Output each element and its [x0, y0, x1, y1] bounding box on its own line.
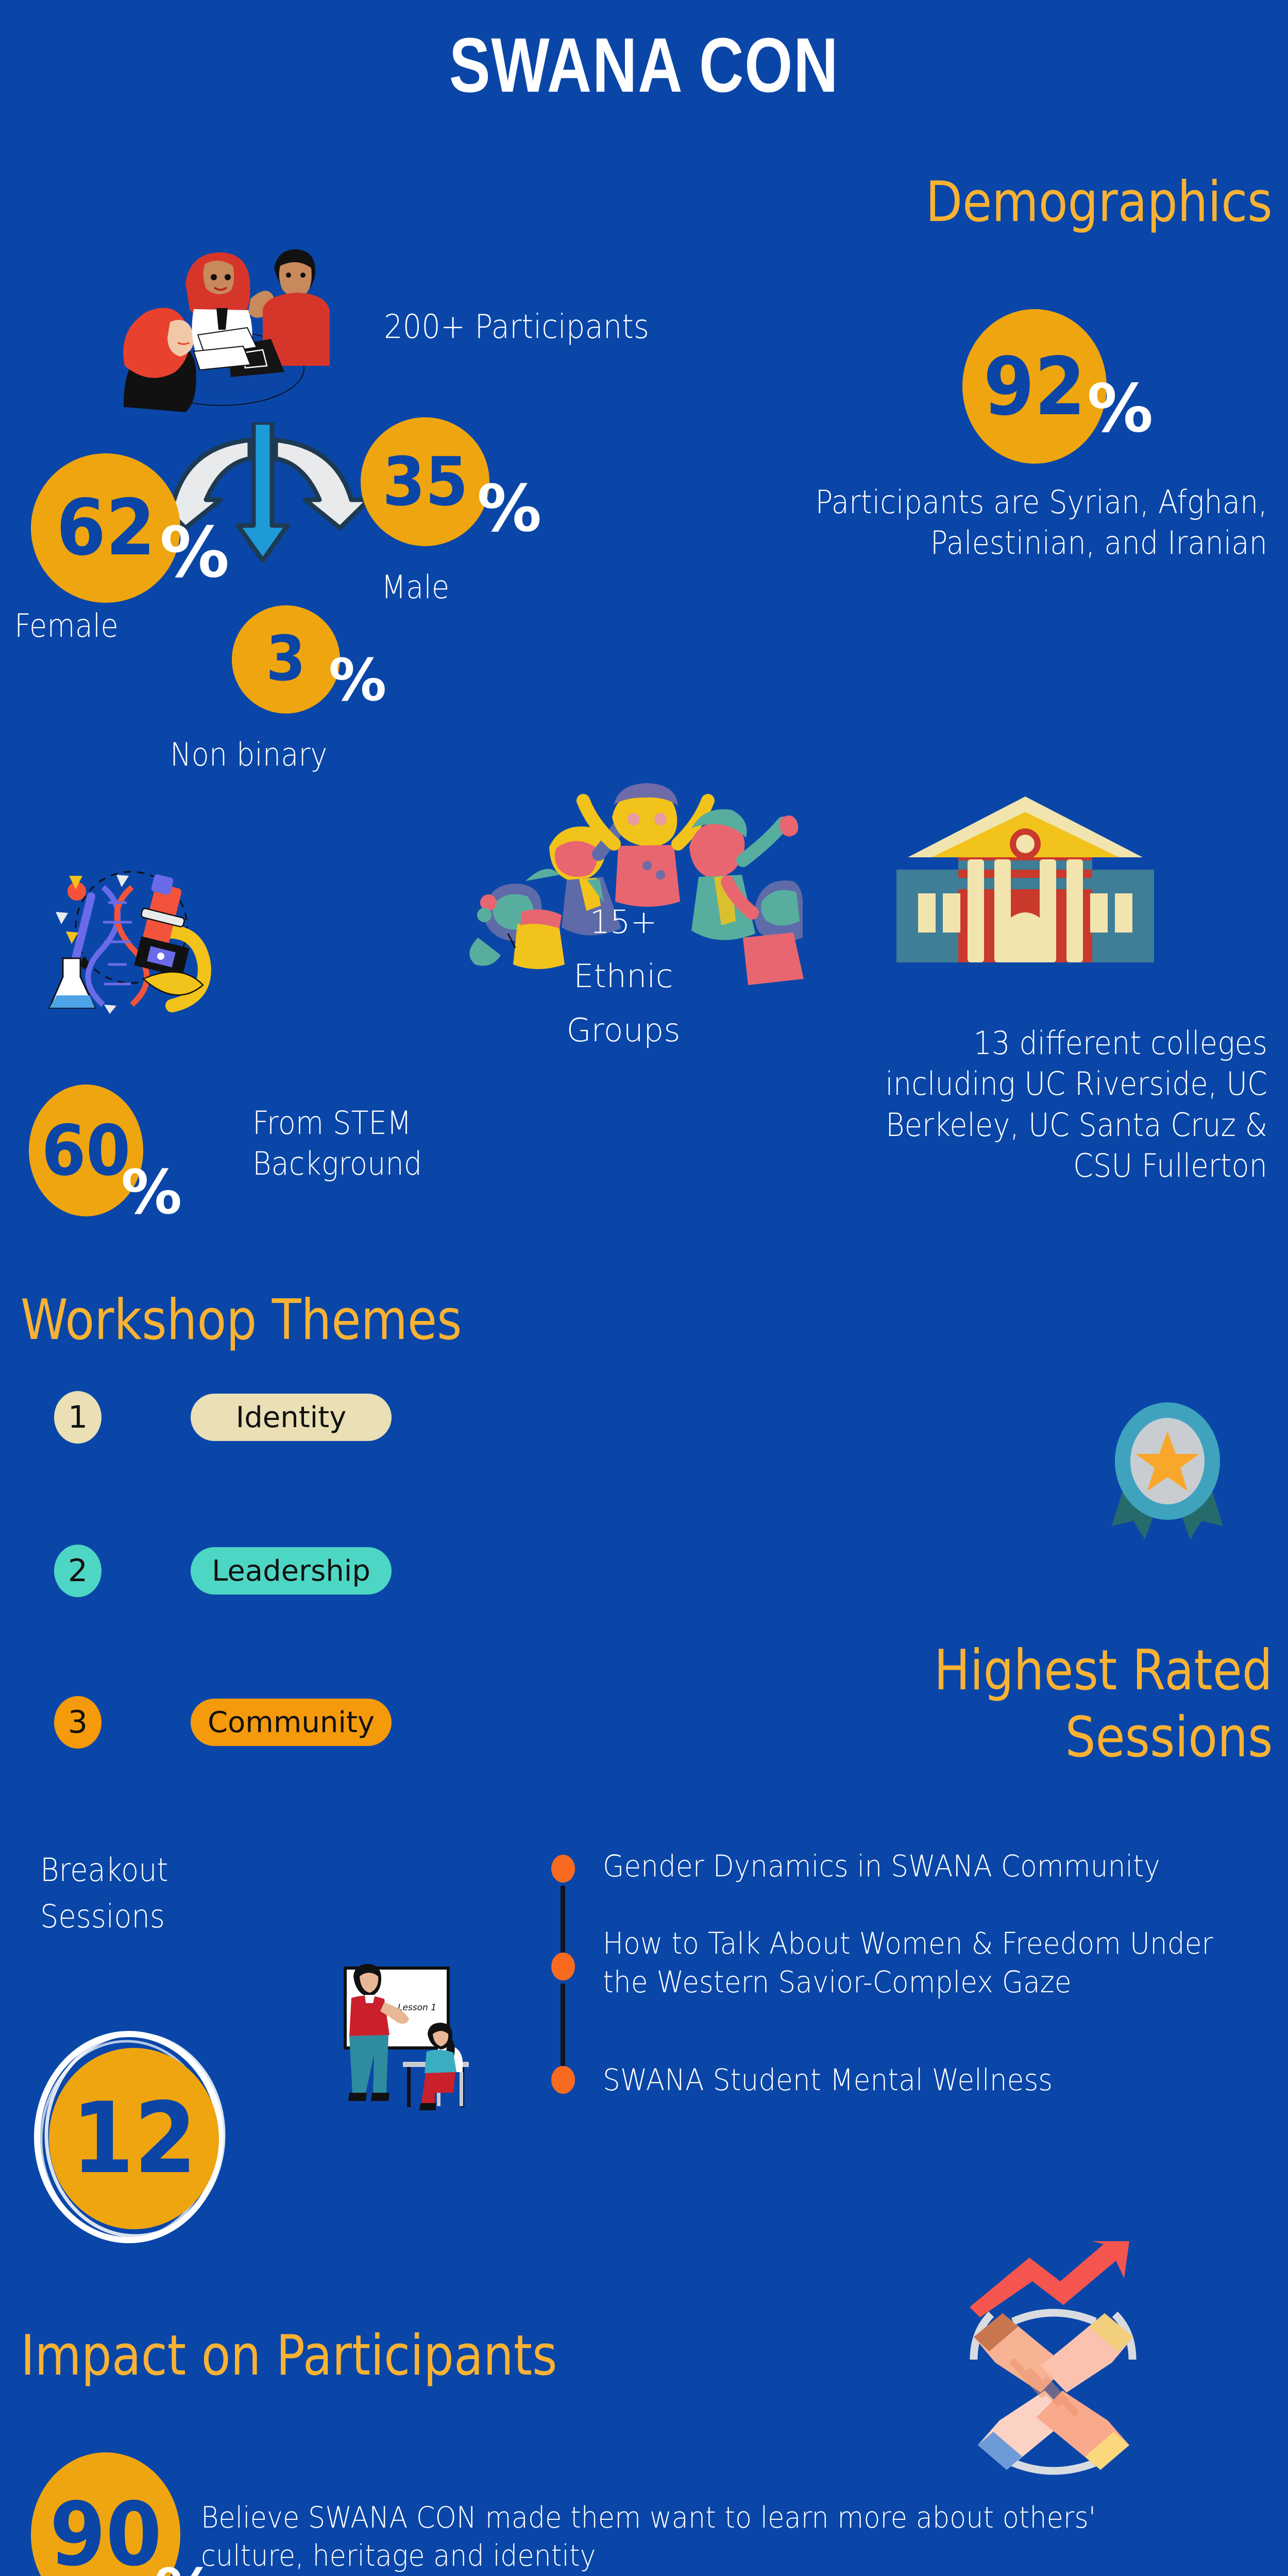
- stat-value-ethnic-groups: 15+: [556, 902, 690, 942]
- session-bullet-3: [551, 2066, 575, 2094]
- stat-label-ethnic-line2: Ethnic: [556, 956, 690, 996]
- stat-badge-male: 35: [361, 417, 489, 546]
- workshop-number-3: 3: [54, 1696, 101, 1749]
- stem-illustration: [26, 855, 237, 1015]
- session-connector-1: [561, 1886, 565, 1953]
- workshop-number-1: 1: [54, 1391, 101, 1444]
- workshop-pill-community[interactable]: Community: [191, 1699, 392, 1746]
- stat-value-nonbinary: 3: [266, 629, 306, 690]
- impact-value-90: 90: [49, 2491, 162, 2576]
- section-heading-demographics: Demographics: [926, 170, 1273, 234]
- stat-label-female: Female: [14, 605, 118, 646]
- stat-label-ethnic-line3: Groups: [556, 1010, 690, 1050]
- college-building-icon: [896, 793, 1154, 999]
- session-item-3: SWANA Student Mental Wellness: [603, 2061, 1214, 2099]
- percent-sign-male: %: [477, 477, 541, 541]
- percent-sign-stem: %: [121, 1162, 182, 1223]
- stat-text-colleges: 13 different colleges including UC River…: [850, 1023, 1267, 1186]
- workshop-pill-leadership[interactable]: Leadership: [191, 1547, 392, 1595]
- stat-text-stem: From STEM Background: [252, 1103, 447, 1184]
- session-item-2: How to Talk About Women & Freedom Under …: [603, 1924, 1214, 2002]
- section-heading-workshops: Workshop Themes: [21, 1288, 462, 1352]
- stat-label-nonbinary: Non binary: [170, 734, 327, 775]
- workshop-number-2: 2: [54, 1545, 101, 1597]
- stat-value-male: 35: [382, 448, 468, 515]
- session-connector-2: [561, 1984, 565, 2066]
- breakout-label-line2: Sessions: [40, 1896, 165, 1937]
- stat-badge-nonbinary: 3: [232, 605, 340, 714]
- svg-text:Lesson 1: Lesson 1: [398, 2003, 436, 2013]
- section-heading-sessions-line1: Highest Rated: [934, 1638, 1273, 1703]
- breakout-count-badge: 12: [49, 2048, 219, 2229]
- classroom-illustration: Lesson 1: [283, 1963, 484, 2128]
- section-heading-sessions-line2: Sessions: [1065, 1705, 1273, 1770]
- stat-value-stem: 60: [42, 1116, 131, 1185]
- collaboration-growth-icon: [938, 2241, 1170, 2478]
- workshop-pill-identity[interactable]: Identity: [191, 1394, 392, 1441]
- session-bullet-1: [551, 1855, 575, 1883]
- session-bullet-2: [551, 1953, 575, 1980]
- stat-label-male: Male: [381, 567, 449, 607]
- participants-illustration: [93, 237, 330, 412]
- stat-value-female: 62: [56, 489, 155, 567]
- stat-text-nationality: Participants are Syrian, Afghan, Palesti…: [804, 482, 1267, 564]
- percent-sign-female: %: [160, 518, 229, 587]
- percent-sign-nonbinary: %: [329, 652, 386, 709]
- stat-value-nationality: 92: [984, 347, 1086, 427]
- award-ribbon-icon: [1090, 1399, 1245, 1554]
- stat-badge-nationality: 92: [962, 309, 1107, 464]
- session-item-1: Gender Dynamics in SWANA Community: [603, 1847, 1214, 1886]
- breakout-label-line1: Breakout: [40, 1850, 168, 1890]
- stat-badge-female: 62: [31, 453, 180, 603]
- breakout-count-value: 12: [71, 2090, 196, 2188]
- percent-sign-nationality: %: [1087, 376, 1153, 442]
- section-heading-impact: Impact on Participants: [21, 2324, 557, 2388]
- page-title: SWANA CON: [129, 21, 1159, 110]
- participants-count-label: 200+ Participants: [384, 307, 649, 349]
- impact-text-90: Believe SWANA CON made them want to lear…: [201, 2499, 1177, 2575]
